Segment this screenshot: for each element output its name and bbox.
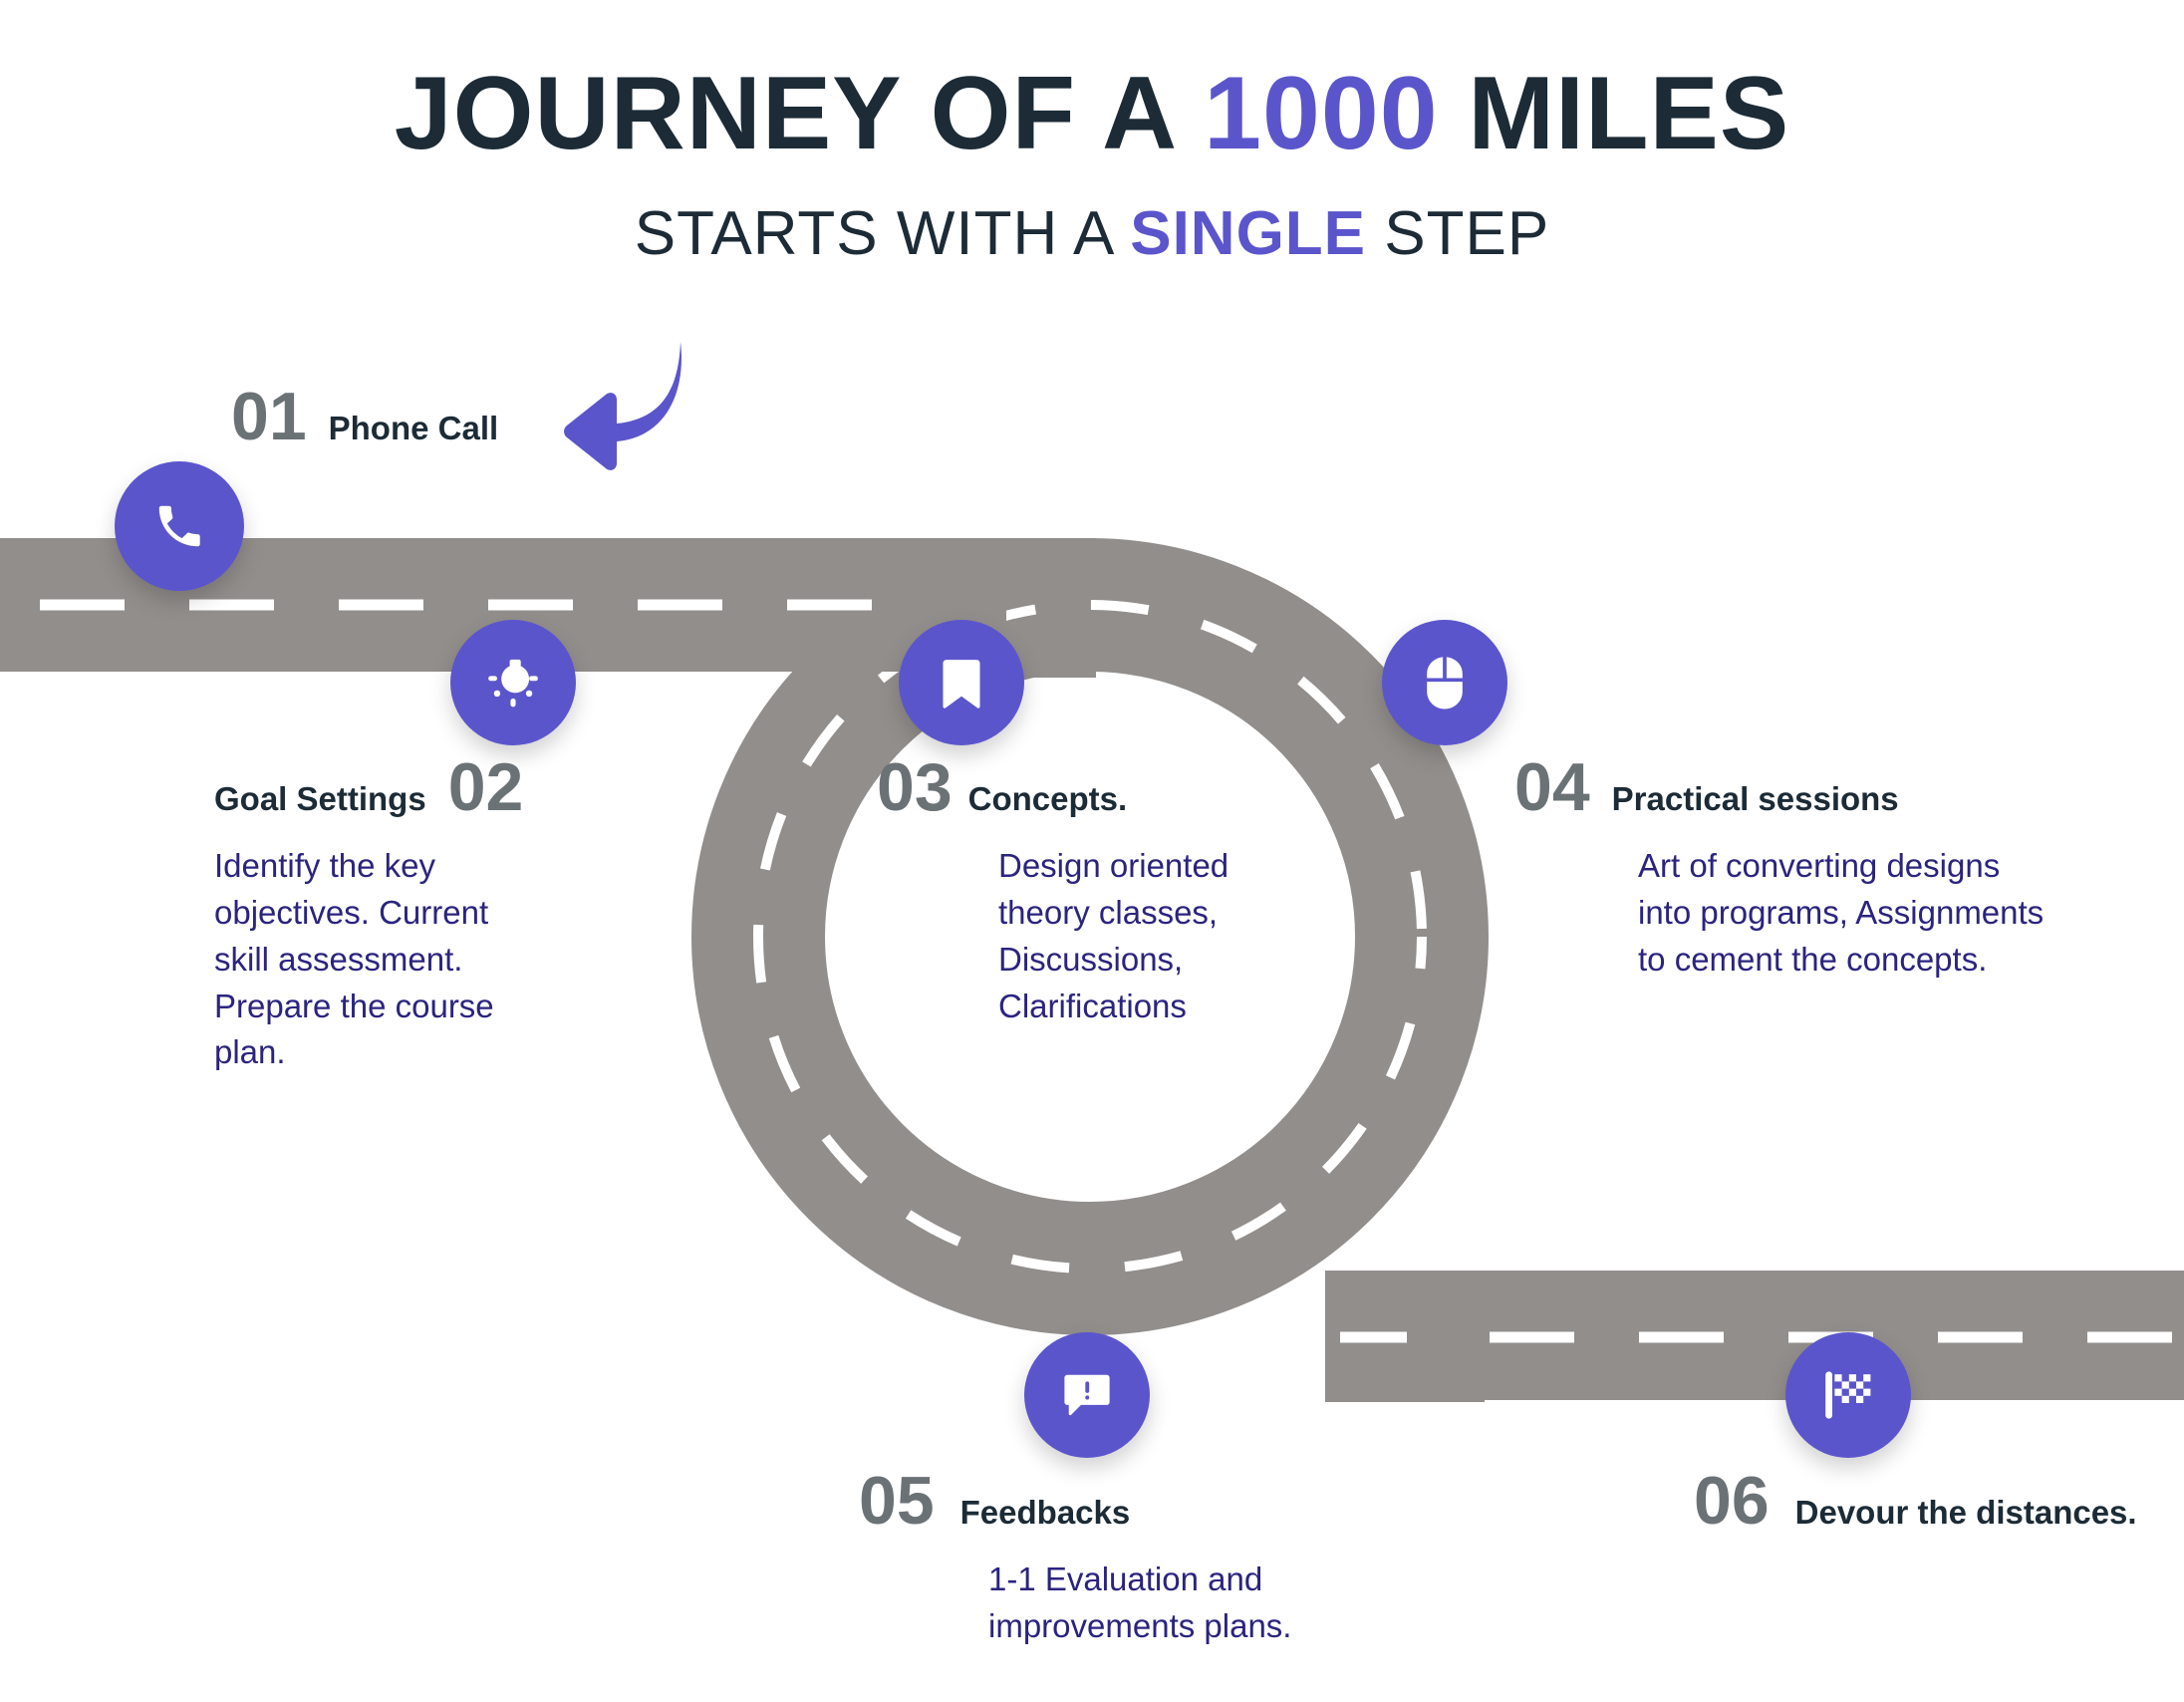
bookmark-icon [939, 655, 984, 710]
step-header-02: Goal Settings 02 [214, 753, 573, 821]
step-header-04: 04 Practical sessions [1514, 753, 1943, 821]
step-marker-01[interactable] [115, 461, 244, 591]
step-label-02: Goal Settings [214, 782, 426, 815]
step-label-04: Practical sessions [1612, 782, 1899, 815]
step-number-03: 03 [877, 753, 953, 821]
step-marker-02[interactable] [450, 620, 576, 745]
step-marker-05[interactable] [1024, 1332, 1150, 1458]
step-label-05: Feedbacks [960, 1496, 1131, 1529]
step-label-03: Concepts. [968, 782, 1128, 815]
step-description-04: Art of converting designs into programs,… [1638, 843, 2056, 984]
step-block-04: 04 Practical sessions Art of converting … [1514, 753, 1943, 984]
step-marker-03[interactable] [899, 620, 1024, 745]
step-block-03: 03 Concepts. Design oriented theory clas… [877, 753, 1206, 1029]
step-number-06: 06 [1694, 1467, 1770, 1535]
lightbulb-icon [483, 653, 543, 712]
step-description-03: Design oriented theory classes, Discussi… [998, 843, 1277, 1029]
step-marker-06[interactable] [1785, 1332, 1911, 1458]
step-marker-04[interactable] [1382, 620, 1507, 745]
step-block-05: 05 Feedbacks 1-1 Evaluation and improvem… [859, 1467, 1287, 1650]
feedback-bubble-icon [1059, 1367, 1115, 1423]
step-block-01: 01 Phone Call [231, 383, 749, 450]
step-header-05: 05 Feedbacks [859, 1467, 1287, 1535]
step-number-04: 04 [1514, 753, 1590, 821]
step-header-06: 06 Devour the distances. [1694, 1467, 2184, 1535]
phone-icon [152, 499, 206, 553]
step-header-01: 01 Phone Call [231, 383, 749, 450]
computer-mouse-icon [1421, 654, 1469, 711]
step-number-01: 01 [231, 383, 307, 450]
step-header-03: 03 Concepts. [877, 753, 1206, 821]
step-description-02: Identify the key objectives. Current ski… [214, 843, 543, 1076]
step-description-05: 1-1 Evaluation and improvements plans. [988, 1557, 1387, 1650]
step-block-02: Goal Settings 02 Identify the key object… [214, 753, 573, 1076]
step-block-06: 06 Devour the distances. [1694, 1467, 2184, 1535]
step-number-02: 02 [448, 753, 524, 821]
step-label-01: Phone Call [329, 412, 499, 444]
checkered-flag-icon [1818, 1365, 1878, 1425]
step-number-05: 05 [859, 1467, 935, 1535]
step-label-06: Devour the distances. [1795, 1496, 2137, 1529]
